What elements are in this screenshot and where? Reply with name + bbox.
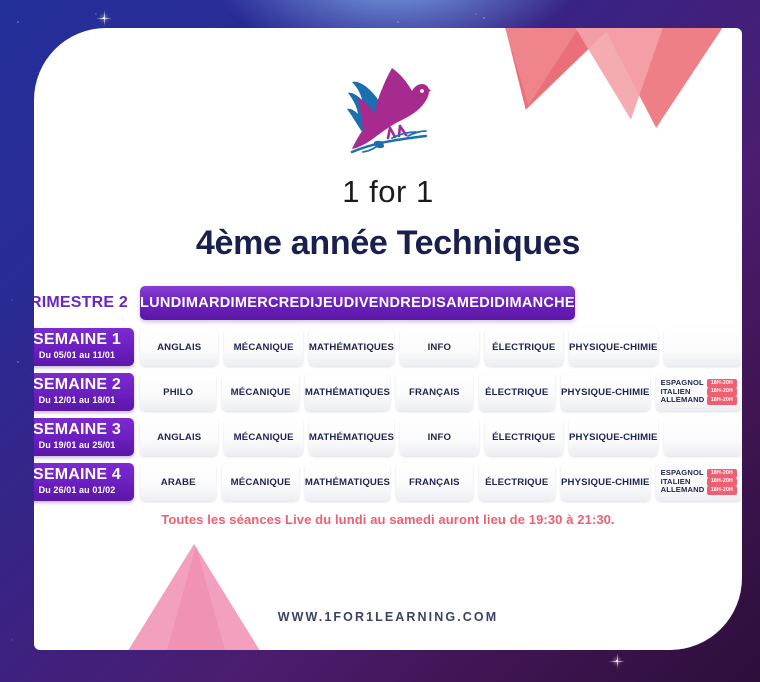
schedule-cell[interactable]: MÉCANIQUE (224, 328, 302, 366)
day-header-lundi[interactable]: LUNDI (140, 286, 186, 320)
week-name: SEMAINE 1 (34, 332, 130, 348)
day-headers-wrap: LUNDIMARDIMERCREDIJEUDIVENDREDISAMEDIDIM… (140, 286, 742, 320)
week-dates: Du 26/01 au 01/02 (34, 485, 130, 496)
language-name: ALLEMAND (661, 396, 705, 405)
week-cells: ARABEMÉCANIQUEMATHÉMATIQUESFRANÇAISÉLECT… (140, 463, 742, 501)
week-dates: Du 12/01 au 18/01 (34, 395, 130, 406)
schedule-cell[interactable]: INFO (400, 328, 478, 366)
language-name: ALLEMAND (661, 486, 705, 495)
day-header-mercredi[interactable]: MERCREDI (235, 286, 315, 320)
brand-wordmark: 1 for 1 (34, 174, 742, 210)
week-row: SEMAINE 1Du 05/01 au 11/01ANGLAISMÉCANIQ… (34, 328, 742, 366)
week-cells: ANGLAISMÉCANIQUEMATHÉMATIQUESINFOÉLECTRI… (140, 328, 742, 366)
bird-logo-icon (330, 56, 446, 176)
sparkle-star-icon (616, 660, 618, 662)
week-dates: Du 19/01 au 25/01 (34, 440, 130, 451)
schedule-cell-empty[interactable] (664, 418, 742, 456)
schedule-cell[interactable]: ANGLAIS (140, 418, 218, 456)
footer-website-url: WWW.1FOR1LEARNING.COM (34, 610, 742, 624)
week-badge[interactable]: SEMAINE 1Du 05/01 au 11/01 (34, 328, 134, 366)
schedule-cell[interactable]: ESPAGNOL18H-20HITALIEN18H-20HALLEMAND18H… (656, 373, 742, 411)
schedule-cell-empty[interactable] (664, 328, 742, 366)
schedule-cell[interactable]: MATHÉMATIQUES (309, 418, 394, 456)
week-badge[interactable]: SEMAINE 4Du 26/01 au 01/02 (34, 463, 134, 501)
schedule-cell[interactable]: PHYSIQUE-CHIMIE (569, 328, 658, 366)
day-header-samedi[interactable]: SAMEDI (436, 286, 494, 320)
schedule-cell[interactable]: ANGLAIS (140, 328, 218, 366)
week-name: SEMAINE 2 (34, 377, 130, 393)
poster-card: 1 for 1 4ème année Techniques TRIMESTRE … (34, 28, 742, 650)
brand-logo: 1 for 1 (34, 56, 742, 210)
language-time-badge: 18H-20H (707, 478, 737, 487)
schedule-header-row: TRIMESTRE 2 LUNDIMARDIMERCREDIJEUDIVENDR… (34, 286, 742, 320)
schedule-cell[interactable]: MATHÉMATIQUES (305, 463, 390, 501)
week-cells: ANGLAISMÉCANIQUEMATHÉMATIQUESINFOÉLECTRI… (140, 418, 742, 456)
schedule-body: SEMAINE 1Du 05/01 au 11/01ANGLAISMÉCANIQ… (34, 328, 742, 501)
live-session-notice: Toutes les séances Live du lundi au same… (34, 512, 742, 527)
schedule-cell[interactable]: MATHÉMATIQUES (305, 373, 390, 411)
schedule-cell[interactable]: FRANÇAIS (396, 373, 472, 411)
week-badge[interactable]: SEMAINE 2Du 12/01 au 18/01 (34, 373, 134, 411)
schedule-cell[interactable]: PHYSIQUE-CHIMIE (561, 463, 650, 501)
week-dates: Du 05/01 au 11/01 (34, 350, 130, 361)
language-time-badge: 18H-20H (707, 469, 737, 478)
week-row: SEMAINE 4Du 26/01 au 01/02ARABEMÉCANIQUE… (34, 463, 742, 501)
week-name: SEMAINE 4 (34, 467, 130, 483)
schedule-cell[interactable]: MÉCANIQUE (222, 373, 298, 411)
schedule-cell[interactable]: PHILO (140, 373, 216, 411)
schedule-cell[interactable]: PHYSIQUE-CHIMIE (561, 373, 650, 411)
day-headers: LUNDIMARDIMERCREDIJEUDIVENDREDISAMEDIDIM… (140, 286, 575, 320)
schedule-cell[interactable]: ESPAGNOL18H-20HITALIEN18H-20HALLEMAND18H… (656, 463, 742, 501)
language-time-badge: 18H-20H (707, 388, 737, 397)
schedule-cell[interactable]: MÉCANIQUE (222, 463, 298, 501)
schedule-table: TRIMESTRE 2 LUNDIMARDIMERCREDIJEUDIVENDR… (34, 286, 742, 508)
day-header-mardi[interactable]: MARDI (186, 286, 235, 320)
schedule-cell[interactable]: ÉLECTRIQUE (485, 418, 563, 456)
week-label-cell: SEMAINE 1Du 05/01 au 11/01 (34, 328, 140, 366)
language-time-badge: 18H-20H (707, 396, 737, 405)
schedule-cell[interactable]: INFO (400, 418, 478, 456)
page-title: 4ème année Techniques (34, 224, 742, 263)
schedule-cell[interactable]: ÉLECTRIQUE (479, 373, 555, 411)
language-time-badge: 18H-20H (707, 486, 737, 495)
week-label-cell: SEMAINE 3Du 19/01 au 25/01 (34, 418, 140, 456)
term-label: TRIMESTRE 2 (34, 286, 134, 320)
language-entry[interactable]: ALLEMAND18H-20H (661, 396, 737, 405)
schedule-cell[interactable]: MATHÉMATIQUES (309, 328, 394, 366)
week-row: SEMAINE 3Du 19/01 au 25/01ANGLAISMÉCANIQ… (34, 418, 742, 456)
schedule-cell[interactable]: FRANÇAIS (396, 463, 472, 501)
schedule-cell[interactable]: MÉCANIQUE (224, 418, 302, 456)
decorative-pyramid (166, 546, 226, 650)
term-label-cell: TRIMESTRE 2 (34, 286, 140, 320)
schedule-cell[interactable]: ARABE (140, 463, 216, 501)
day-header-jeudi[interactable]: JEUDI (315, 286, 359, 320)
schedule-cell[interactable]: ÉLECTRIQUE (479, 463, 555, 501)
week-label-cell: SEMAINE 2Du 12/01 au 18/01 (34, 373, 140, 411)
week-name: SEMAINE 3 (34, 422, 130, 438)
language-entry[interactable]: ALLEMAND18H-20H (661, 486, 737, 495)
day-header-dimanche[interactable]: DIMANCHE (494, 286, 575, 320)
week-row: SEMAINE 2Du 12/01 au 18/01PHILOMÉCANIQUE… (34, 373, 742, 411)
week-label-cell: SEMAINE 4Du 26/01 au 01/02 (34, 463, 140, 501)
schedule-cell[interactable]: ÉLECTRIQUE (485, 328, 563, 366)
week-badge[interactable]: SEMAINE 3Du 19/01 au 25/01 (34, 418, 134, 456)
day-header-vendredi[interactable]: VENDREDI (359, 286, 436, 320)
schedule-cell[interactable]: PHYSIQUE-CHIMIE (569, 418, 658, 456)
week-cells: PHILOMÉCANIQUEMATHÉMATIQUESFRANÇAISÉLECT… (140, 373, 742, 411)
language-time-badge: 18H-20H (707, 379, 737, 388)
sparkle-star-icon (103, 17, 105, 19)
